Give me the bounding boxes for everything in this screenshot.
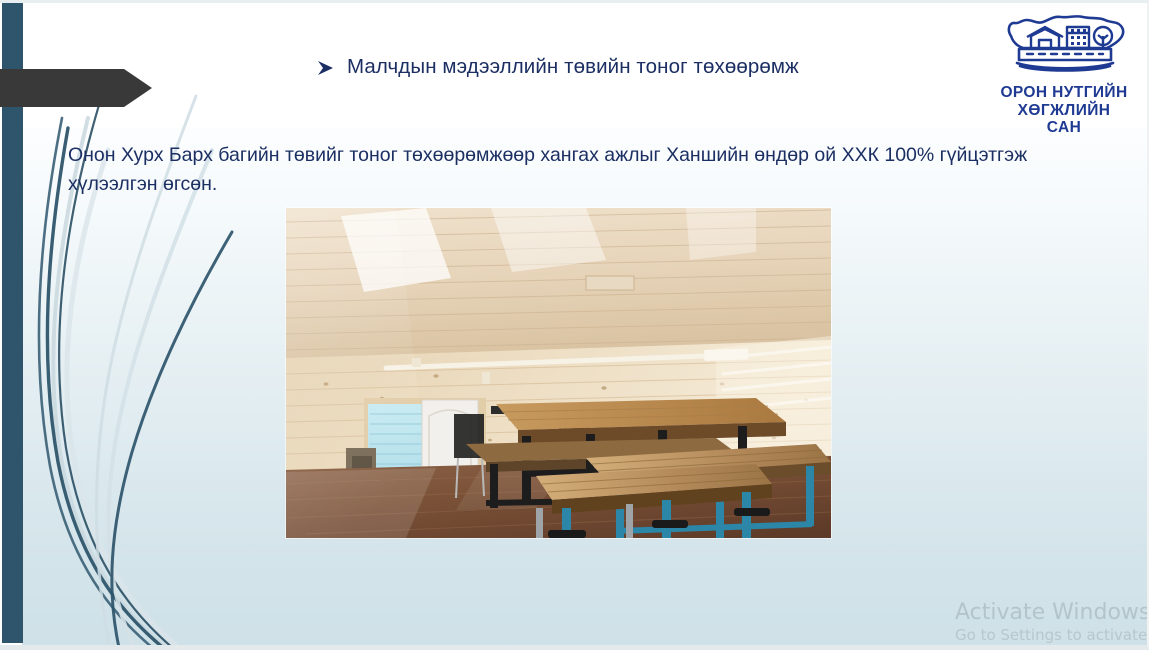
slide-body-text: Онон Хурх Барх багийн төвийг тоног төхөө…: [68, 141, 1053, 199]
activate-windows-watermark: Activate Windows Go to Settings to activ…: [955, 600, 1149, 645]
watermark-subtitle: Go to Settings to activate Wi: [955, 626, 1149, 645]
slide-title: Малчдын мэдээллийн төвийн тоног төхөөрөм…: [347, 55, 799, 79]
banner-arrow-shape: [0, 69, 152, 107]
room-photo-illustration: [286, 208, 831, 538]
watermark-title: Activate Windows: [955, 600, 1149, 626]
room-photo: [286, 208, 831, 538]
presentation-slide: Малчдын мэдээллийн төвийн тоног төхөөрөм…: [0, 0, 1149, 650]
arrow-bullet-icon: [316, 57, 336, 79]
logo-text-line1: ОРОН НУТГИЙН: [988, 84, 1140, 102]
logo-text-line2: ХӨГЖЛИЙН: [988, 102, 1140, 120]
organization-logo: ОРОН НУТГИЙН ХӨГЖЛИЙН САН: [988, 8, 1140, 137]
mongolia-map-logo-icon: [993, 8, 1135, 80]
slide-title-row: Малчдын мэдээллийн төвийн тоног төхөөрөм…: [316, 55, 799, 79]
logo-text-line3: САН: [988, 119, 1140, 137]
